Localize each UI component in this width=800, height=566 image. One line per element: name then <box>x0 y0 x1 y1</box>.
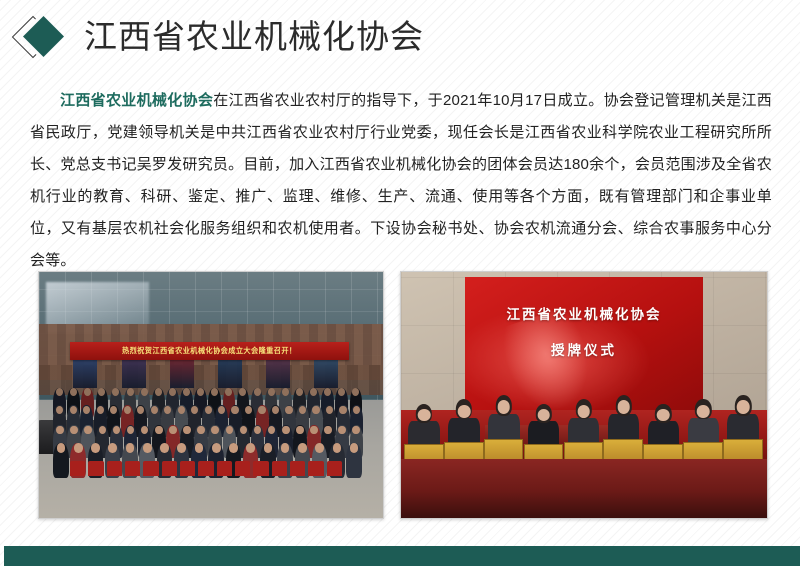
diamond-logo-icon <box>16 13 76 61</box>
left-photo-posters <box>39 358 383 388</box>
article-text: 在江西省农业农村厅的指导下，于2021年10月17日成立。协会登记管理机关是江西… <box>30 92 772 269</box>
left-photo-banner-text: 热烈祝贺江西省农业机械化协会成立大会隆重召开！ <box>122 346 297 356</box>
page-title: 江西省农业机械化协会 <box>84 20 424 55</box>
right-photo-screen-line1: 江西省农业机械化协会 <box>465 303 703 323</box>
article-body: 江西省农业机械化协会在江西省农业农村厅的指导下，于2021年10月17日成立。协… <box>30 85 772 277</box>
left-photo-red-banner: 热烈祝贺江西省农业机械化协会成立大会隆重召开！ <box>70 342 349 360</box>
award-ceremony-photo: 江西省农业机械化协会 授牌仪式 <box>400 271 768 519</box>
left-photo-canvas: 热烈祝贺江西省农业机械化协会成立大会隆重召开！ <box>39 272 383 518</box>
right-photo-canvas: 江西省农业机械化协会 授牌仪式 <box>401 272 767 518</box>
right-photo-screen-line2: 授牌仪式 <box>465 339 703 359</box>
group-photo-founding-conference: 热烈祝贺江西省农业机械化协会成立大会隆重召开！ <box>38 271 384 519</box>
left-photo-steps <box>39 461 383 518</box>
footer-bar <box>4 546 800 566</box>
article-highlight: 江西省农业机械化协会 <box>60 92 213 109</box>
page-header: 江西省农业机械化协会 <box>0 8 800 66</box>
right-photo-stage-floor <box>401 459 767 518</box>
left-photo-wall-characters <box>177 326 377 338</box>
page-root: 江西省农业机械化协会 江西省农业机械化协会在江西省农业农村厅的指导下，于2021… <box>0 0 800 566</box>
photo-row: 热烈祝贺江西省农业机械化协会成立大会隆重召开！ 江西省农业机械化协会 授牌仪式 <box>0 271 800 517</box>
